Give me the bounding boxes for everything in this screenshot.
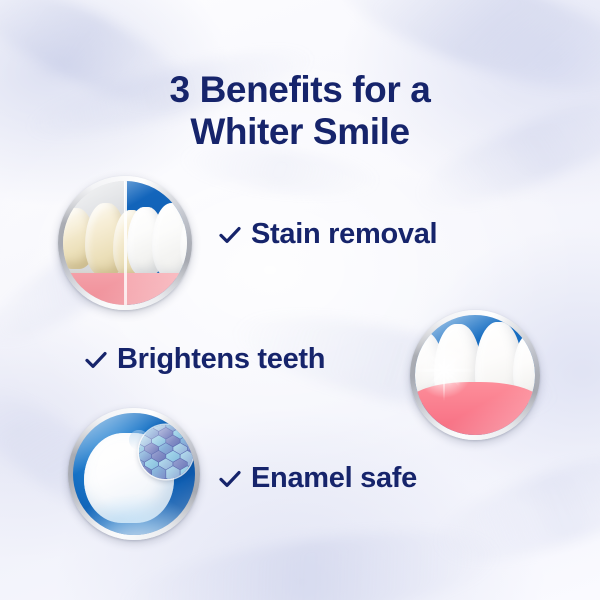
gum-before: [63, 273, 125, 305]
hexagon-honeycomb-magnifier: [139, 425, 193, 479]
page-title-line-2: Whiter Smile: [0, 111, 600, 153]
enamel-glow: [73, 494, 195, 535]
benefit-label-stain-removal: Stain removal: [251, 218, 437, 251]
benefit-label-enamel-safe: Enamel safe: [251, 462, 417, 495]
gum-line: [415, 382, 535, 435]
page-title: 3 Benefits for a Whiter Smile: [0, 69, 600, 153]
bright-teeth-sparkle-circle: [415, 315, 535, 435]
check-icon: [218, 223, 242, 247]
enamel-structure-circle: [73, 413, 195, 535]
gum-after: [125, 273, 187, 305]
benefit-label-brightens-teeth: Brightens teeth: [117, 343, 325, 376]
benefit-row-brightens-teeth: Brightens teeth: [84, 343, 325, 376]
benefit-row-enamel-safe: Enamel safe: [218, 462, 417, 495]
split-divider: [124, 181, 127, 305]
check-icon: [218, 467, 242, 491]
page-title-line-1: 3 Benefits for a: [0, 69, 600, 111]
benefit-image-stain-removal: [58, 176, 192, 310]
check-icon: [84, 348, 108, 372]
benefit-row-stain-removal: Stain removal: [218, 218, 437, 251]
benefit-image-brightens-teeth: [410, 310, 540, 440]
before-after-teeth-split-circle: [63, 181, 187, 305]
benefit-image-enamel-safe: [68, 408, 200, 540]
benefits-poster: 3 Benefits for a Whiter Smile: [0, 0, 600, 600]
